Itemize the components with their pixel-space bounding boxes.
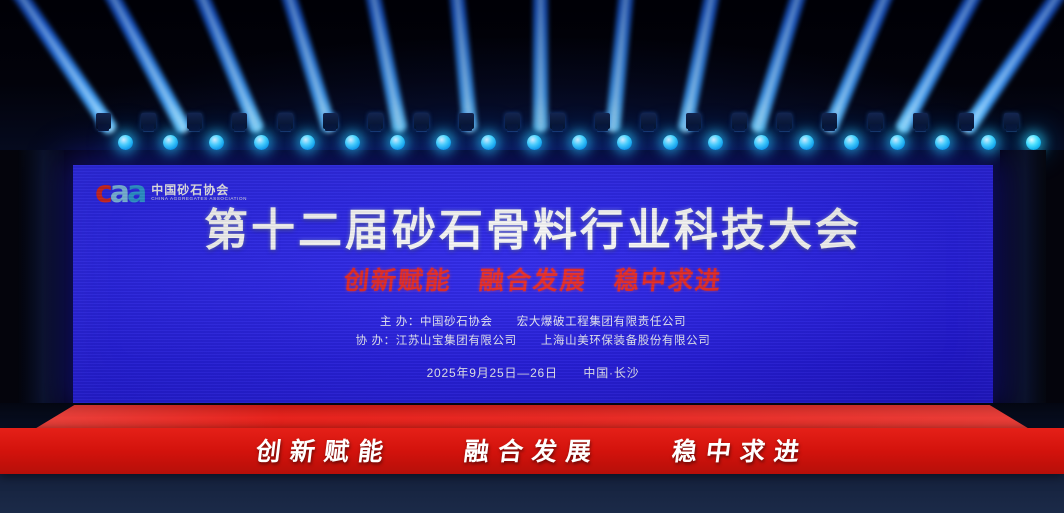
organizer-line: 主 办：中国砂石协会 宏大爆破工程集团有限责任公司 bbox=[73, 313, 993, 332]
logo-letter-a1-icon: a bbox=[110, 178, 127, 208]
organizers-block: 主 办：中国砂石协会 宏大爆破工程集团有限责任公司 协 办：江苏山宝集团有限公司… bbox=[73, 313, 993, 351]
moving-head-fixture bbox=[141, 113, 156, 129]
moving-head-fixture bbox=[732, 113, 747, 129]
moving-head-fixture bbox=[323, 113, 338, 129]
logo-letter-a2-icon: a bbox=[127, 178, 144, 208]
fixture-lens-icon bbox=[961, 124, 972, 131]
stage-scene: c a a 中国砂石协会 CHINA AGGREGATES ASSOCIATIO… bbox=[0, 0, 1064, 513]
stage-glow-orb bbox=[300, 135, 315, 150]
stage-glow-orb bbox=[799, 135, 814, 150]
stage-glow-orb bbox=[345, 135, 360, 150]
moving-head-fixture bbox=[232, 113, 247, 129]
moving-head-fixture bbox=[959, 113, 974, 129]
logo-mark-caa: c a a bbox=[95, 178, 144, 208]
stage-glow-orb bbox=[163, 135, 178, 150]
moving-head-fixture bbox=[414, 113, 429, 129]
stage-glow-orb bbox=[390, 135, 405, 150]
banner-segment: 创新赋能 bbox=[254, 439, 393, 464]
stage-glow-orb bbox=[754, 135, 769, 150]
led-screen: c a a 中国砂石协会 CHINA AGGREGATES ASSOCIATIO… bbox=[73, 165, 993, 403]
fixture-lens-icon bbox=[461, 124, 472, 131]
stage-glow-orb bbox=[935, 135, 950, 150]
moving-head-fixture bbox=[1004, 113, 1019, 129]
fixture-lens-icon bbox=[98, 124, 109, 131]
organizer-line: 协 办：江苏山宝集团有限公司 上海山美环保装备股份有限公司 bbox=[73, 332, 993, 351]
stage-glow-orb bbox=[708, 135, 723, 150]
fixture-lens-icon bbox=[234, 124, 245, 131]
association-logo: c a a 中国砂石协会 CHINA AGGREGATES ASSOCIATIO… bbox=[95, 178, 247, 208]
banner-segment: 融合发展 bbox=[462, 439, 601, 464]
moving-head-fixture bbox=[187, 113, 202, 129]
moving-head-fixture bbox=[641, 113, 656, 129]
fixture-lens-icon bbox=[824, 124, 835, 131]
stage-glow-orb bbox=[481, 135, 496, 150]
fixture-lens-icon bbox=[915, 124, 926, 131]
moving-head-fixture bbox=[777, 113, 792, 129]
fixture-lens-icon bbox=[507, 124, 518, 131]
stage-glow-orb bbox=[118, 135, 133, 150]
moving-head-fixture bbox=[96, 113, 111, 129]
banner-segment: 稳中求进 bbox=[670, 439, 809, 464]
fixture-lens-icon bbox=[643, 124, 654, 131]
stage-pillar-right bbox=[1000, 150, 1046, 415]
fixture-lens-icon bbox=[280, 124, 291, 131]
fixture-lens-icon bbox=[370, 124, 381, 131]
fixture-lens-icon bbox=[1006, 124, 1017, 131]
moving-head-fixture bbox=[595, 113, 610, 129]
stage-glow-orb bbox=[890, 135, 905, 150]
stage-glow-orb bbox=[572, 135, 587, 150]
logo-org-name-cn: 中国砂石协会 bbox=[151, 184, 247, 196]
date-location-line: 2025年9月25日—26日 中国·长沙 bbox=[73, 364, 993, 381]
moving-head-fixture bbox=[686, 113, 701, 129]
stage-glow-orb bbox=[436, 135, 451, 150]
fixture-lens-icon bbox=[416, 124, 427, 131]
stage-glow-orb bbox=[1026, 135, 1041, 150]
stage-glow-orb bbox=[527, 135, 542, 150]
moving-head-fixture bbox=[505, 113, 520, 129]
stage-glow-orb bbox=[209, 135, 224, 150]
stage-front-banner: 创新赋能 融合发展 稳中求进 bbox=[0, 428, 1064, 474]
stage-glow-orb bbox=[981, 135, 996, 150]
moving-head-fixture bbox=[868, 113, 883, 129]
stage-pillar-left bbox=[18, 150, 64, 415]
moving-head-fixture bbox=[368, 113, 383, 129]
fixture-lens-icon bbox=[870, 124, 881, 131]
fixture-lens-icon bbox=[552, 124, 563, 131]
stage-glow-orb bbox=[663, 135, 678, 150]
logo-letter-c-icon: c bbox=[95, 178, 110, 208]
glowing-orbs-group bbox=[0, 135, 1064, 157]
fixture-lens-icon bbox=[143, 124, 154, 131]
stage-glow-orb bbox=[254, 135, 269, 150]
stage-glow-orb bbox=[617, 135, 632, 150]
fixture-lens-icon bbox=[325, 124, 336, 131]
stage-glow-orb bbox=[844, 135, 859, 150]
fixture-lens-icon bbox=[734, 124, 745, 131]
logo-wordmark: 中国砂石协会 CHINA AGGREGATES ASSOCIATION bbox=[148, 184, 247, 202]
conference-main-title: 第十二届砂石骨料行业科技大会 bbox=[73, 209, 993, 253]
moving-head-fixture bbox=[822, 113, 837, 129]
fixture-lens-icon bbox=[597, 124, 608, 131]
fixture-lens-icon bbox=[779, 124, 790, 131]
moving-head-fixture bbox=[913, 113, 928, 129]
moving-head-fixture bbox=[459, 113, 474, 129]
fixture-lens-icon bbox=[688, 124, 699, 131]
moving-head-fixture bbox=[550, 113, 565, 129]
logo-org-name-en: CHINA AGGREGATES ASSOCIATION bbox=[151, 197, 247, 202]
moving-head-fixture bbox=[278, 113, 293, 129]
conference-slogan-subtitle: 创新赋能 融合发展 稳中求进 bbox=[73, 268, 993, 293]
fixture-lens-icon bbox=[189, 124, 200, 131]
